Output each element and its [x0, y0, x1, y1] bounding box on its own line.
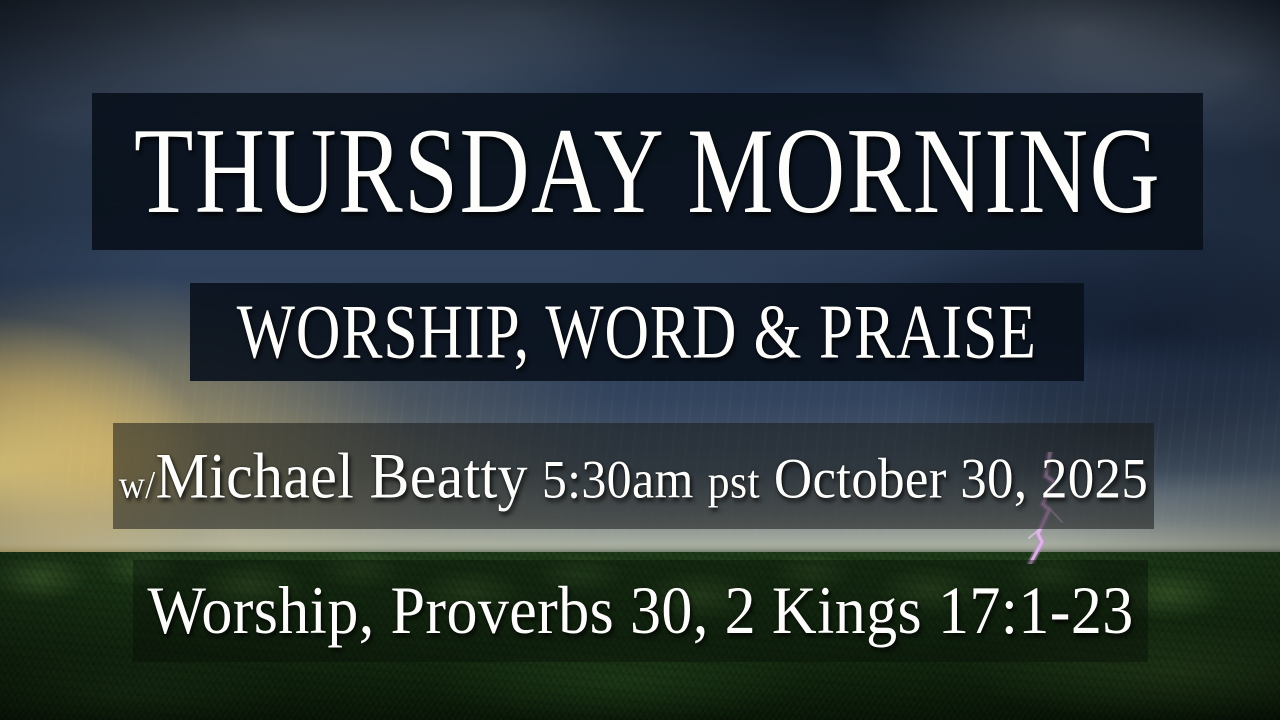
title-banner: THURSDAY MORNING	[92, 93, 1203, 250]
speaker-name: Michael Beatty	[155, 440, 527, 511]
subtitle: WORSHIP, WORD & PRAISE	[237, 293, 1037, 371]
page-title: THURSDAY MORNING	[134, 110, 1161, 233]
speaker-banner: w/Michael Beatty5:30ampstOctober 30, 202…	[113, 423, 1154, 529]
service-date: October 30, 2025	[774, 448, 1148, 511]
speaker-details: w/Michael Beatty5:30ampstOctober 30, 202…	[119, 444, 1148, 509]
service-time: 5:30am	[542, 449, 694, 509]
scripture-references: Worship, Proverbs 30, 2 Kings 17:1-23	[147, 577, 1133, 645]
scripture-banner: Worship, Proverbs 30, 2 Kings 17:1-23	[133, 560, 1148, 662]
service-timezone: pst	[708, 455, 760, 508]
subtitle-banner: WORSHIP, WORD & PRAISE	[190, 283, 1084, 381]
slide-canvas: THURSDAY MORNING WORSHIP, WORD & PRAISE …	[0, 0, 1280, 720]
speaker-prefix: w/	[119, 463, 156, 506]
